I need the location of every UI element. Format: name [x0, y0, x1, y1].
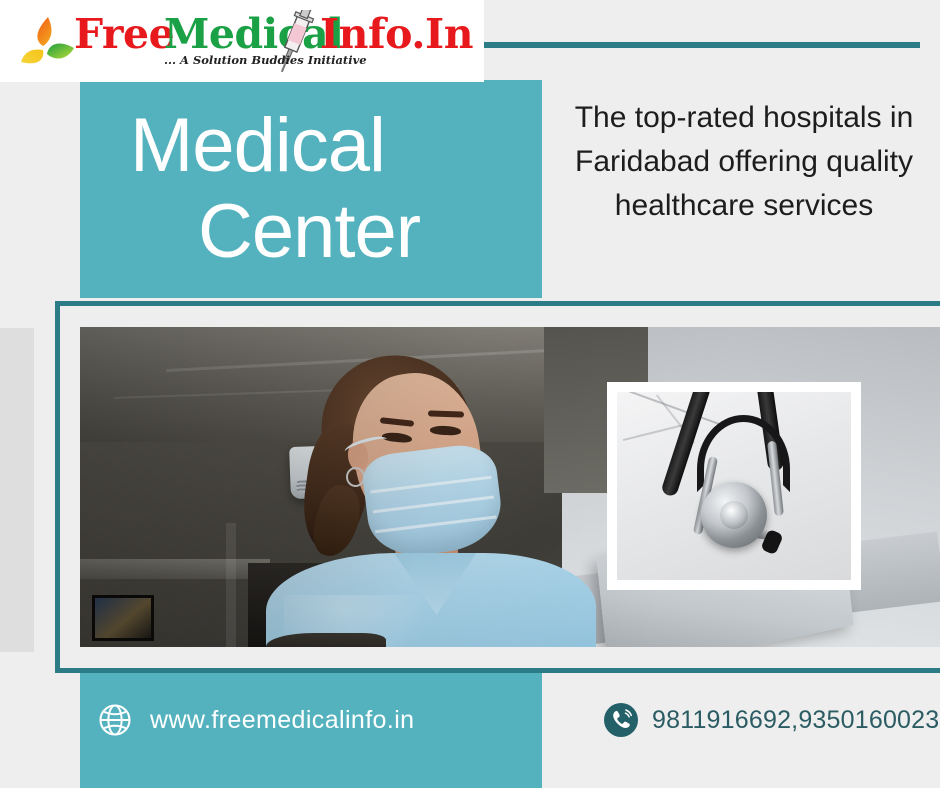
leaf-flower-icon [18, 14, 76, 74]
logo-word-free: Free [74, 10, 174, 58]
phone-number: 9811916692,9350160023 [652, 706, 939, 735]
website-url: www.freemedicalinfo.in [150, 706, 414, 735]
page-title-line-1: Medical [130, 103, 530, 189]
logo-word-info: Info.In [320, 10, 473, 58]
page-title-line-2: Center [130, 189, 530, 275]
page-title: Medical Center [130, 103, 530, 275]
footer-website[interactable]: www.freemedicalinfo.in [98, 703, 414, 737]
logo-word-medical: Medical [164, 10, 343, 58]
phone-call-icon [604, 703, 638, 737]
poster-canvas: Free Medical Info.In [0, 0, 940, 788]
logo-inner: Free Medical Info.In [18, 8, 468, 76]
brand-logo[interactable]: Free Medical Info.In [0, 0, 484, 82]
grey-accent-block [0, 328, 34, 652]
subheadline: The top-rated hospitals in Faridabad off… [552, 96, 936, 228]
stethoscope-inset-photo [607, 382, 861, 590]
stethoscope-image [617, 392, 851, 580]
top-divider-rule [483, 42, 920, 48]
logo-tagline: ... A Solution Buddies Initiative [164, 53, 367, 67]
footer-phone[interactable]: 9811916692,9350160023 [604, 703, 939, 737]
globe-icon [98, 703, 132, 737]
